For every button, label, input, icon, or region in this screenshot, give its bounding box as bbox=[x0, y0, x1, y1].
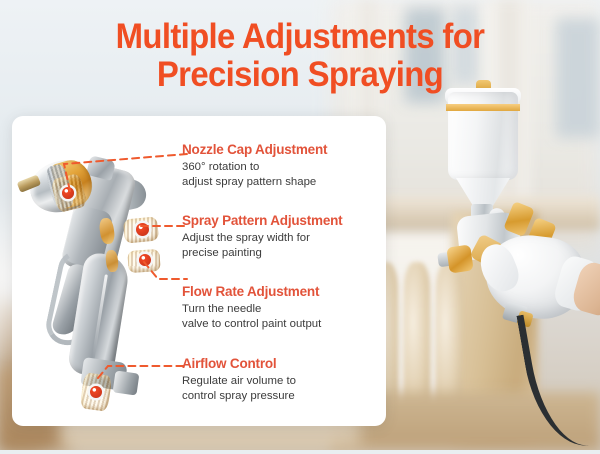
spray-pattern-marker-dot bbox=[136, 223, 149, 236]
airflow-marker-dot bbox=[90, 386, 102, 398]
photo-nozzle-cap-knob bbox=[446, 244, 473, 273]
callout-nozzle-cap: Nozzle Cap Adjustment 360° rotation to a… bbox=[182, 142, 388, 190]
callout-description: Adjust the spray width for precise paint… bbox=[182, 231, 388, 261]
page-title: Multiple Adjustments for Precision Spray… bbox=[0, 18, 600, 94]
callout-spray-pattern: Spray Pattern Adjustment Adjust the spra… bbox=[182, 213, 388, 261]
callout-description-line-1: Regulate air volume to bbox=[182, 374, 388, 389]
callout-description: Turn the needle valve to control paint o… bbox=[182, 302, 388, 332]
callout-description: Regulate air volume to control spray pre… bbox=[182, 374, 388, 404]
spray-gun-illustration bbox=[20, 124, 170, 420]
product-photo bbox=[390, 86, 600, 450]
callout-description-line-1: Turn the needle bbox=[182, 302, 388, 317]
flow-rate-marker-dot bbox=[139, 254, 151, 266]
callout-description-line-1: 360° rotation to bbox=[182, 160, 388, 175]
feature-card: Nozzle Cap Adjustment 360° rotation to a… bbox=[12, 116, 386, 426]
callout-description-line-2: precise painting bbox=[182, 246, 388, 261]
callout-description-line-2: control spray pressure bbox=[182, 389, 388, 404]
photo-cup-gold-band bbox=[446, 104, 520, 111]
callout-title: Spray Pattern Adjustment bbox=[182, 213, 388, 228]
callout-description-line-2: valve to control paint output bbox=[182, 317, 388, 332]
callout-title: Airflow Control bbox=[182, 356, 388, 371]
callout-title: Flow Rate Adjustment bbox=[182, 284, 388, 299]
callout-flow-rate: Flow Rate Adjustment Turn the needle val… bbox=[182, 284, 388, 332]
callout-description-line-2: adjust spray pattern shape bbox=[182, 175, 388, 190]
callout-airflow: Airflow Control Regulate air volume to c… bbox=[182, 356, 388, 404]
gun-air-inlet bbox=[113, 370, 140, 395]
page-title-line-1: Multiple Adjustments for bbox=[18, 18, 582, 56]
callout-description: 360° rotation to adjust spray pattern sh… bbox=[182, 160, 388, 190]
callout-description-line-1: Adjust the spray width for bbox=[182, 231, 388, 246]
page-title-line-2: Precision Spraying bbox=[18, 56, 582, 94]
photo-air-hose bbox=[516, 302, 600, 453]
nozzle-cap-marker-dot bbox=[62, 187, 74, 199]
callout-title: Nozzle Cap Adjustment bbox=[182, 142, 388, 157]
